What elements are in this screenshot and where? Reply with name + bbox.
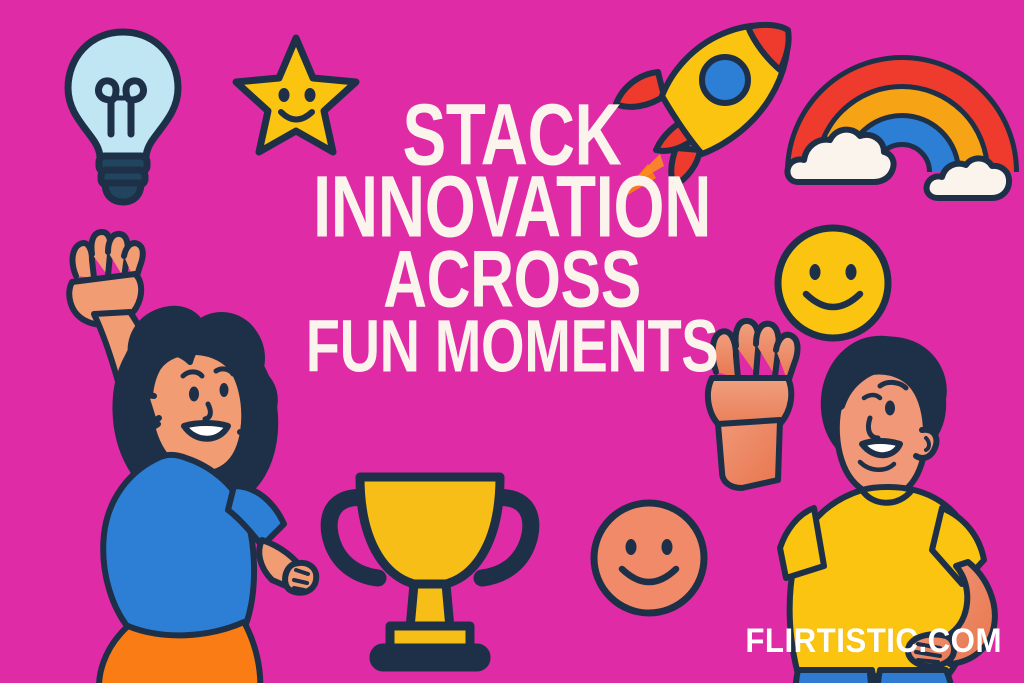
rocket-icon: [598, 18, 798, 208]
smiling-star-icon: [232, 32, 360, 158]
brand-watermark: FLIRTISTIC.COM: [745, 622, 1002, 661]
lightbulb-icon: [58, 24, 188, 204]
promo-poster: STACK INNOVATION ACROSS FUN MOMENTS FLIR…: [0, 0, 1024, 683]
rainbow-icon: [786, 32, 1022, 202]
smiley-face-orange-icon: [588, 497, 710, 619]
trophy-icon: [322, 462, 538, 683]
character-woman-cheering: [8, 228, 318, 683]
